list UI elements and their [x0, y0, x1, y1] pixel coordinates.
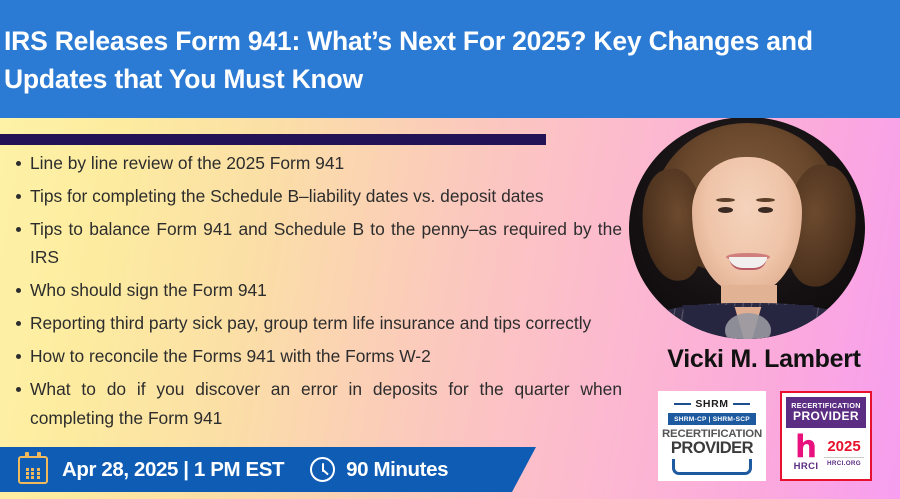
webinar-banner: IRS Releases Form 941: What’s Next For 2… — [0, 0, 900, 499]
speaker-name: Vicki M. Lambert — [639, 345, 889, 374]
list-item: How to reconcile the Forms 941 with the … — [0, 342, 628, 370]
portrait-eye-left — [718, 207, 733, 213]
hrci-body: h HRCI 2025 HRCI.ORG — [786, 428, 866, 475]
portrait-face — [692, 157, 802, 293]
list-item: Tips for completing the Schedule B–liabi… — [0, 182, 628, 210]
hrci-year: 2025 — [824, 439, 864, 455]
divider — [0, 134, 546, 145]
list-item: Line by line review of the 2025 Form 941 — [0, 149, 628, 177]
portrait-brow-right — [756, 198, 775, 202]
list-item: What to do if you discover an error in d… — [0, 375, 628, 432]
topics-list: Line by line review of the 2025 Form 941… — [0, 149, 628, 437]
clock-icon — [310, 457, 335, 482]
hrci-rule — [824, 457, 864, 458]
portrait-eye-right — [758, 207, 773, 213]
calendar-dots — [22, 466, 44, 480]
event-info-bar: Apr 28, 2025 | 1 PM EST 90 Minutes — [0, 447, 536, 492]
shrm-certifications: SHRM-CP | SHRM-SCP — [668, 413, 756, 425]
portrait-brow-left — [716, 198, 735, 202]
event-duration: 90 Minutes — [346, 458, 448, 482]
certification-badges: SHRM SHRM-CP | SHRM-SCP RECERTIFICATION … — [638, 390, 892, 482]
event-date: Apr 28, 2025 | 1 PM EST — [62, 458, 284, 482]
hrci-logo-block: h HRCI — [788, 433, 824, 472]
shrm-rule-right — [733, 403, 750, 405]
hrci-year-block: 2025 HRCI.ORG — [824, 439, 864, 467]
shrm-badge: SHRM SHRM-CP | SHRM-SCP RECERTIFICATION … — [658, 391, 766, 481]
shrm-bracket-icon — [672, 459, 752, 475]
list-item: Tips to balance Form 941 and Schedule B … — [0, 215, 628, 272]
page-title: IRS Releases Form 941: What’s Next For 2… — [4, 22, 896, 98]
banner-header: IRS Releases Form 941: What’s Next For 2… — [0, 0, 900, 118]
shrm-brand-row: SHRM — [674, 398, 749, 410]
hrci-site: HRCI.ORG — [824, 460, 864, 467]
hrci-badge: RECERTIFICATION PROVIDER h HRCI 2025 HRC… — [780, 391, 872, 481]
hrci-header: RECERTIFICATION PROVIDER — [786, 397, 866, 428]
hrci-org-label: HRCI — [788, 461, 824, 472]
list-item: Who should sign the Form 941 — [0, 276, 628, 304]
shrm-provider-label: PROVIDER — [671, 440, 753, 457]
shrm-rule-left — [674, 403, 691, 405]
calendar-icon — [18, 456, 48, 484]
hrci-provider-label: PROVIDER — [786, 410, 866, 423]
shrm-brand: SHRM — [695, 398, 728, 410]
list-item: Reporting third party sick pay, group te… — [0, 309, 628, 337]
hrci-logo-icon: h — [788, 433, 824, 461]
avatar — [629, 117, 865, 339]
